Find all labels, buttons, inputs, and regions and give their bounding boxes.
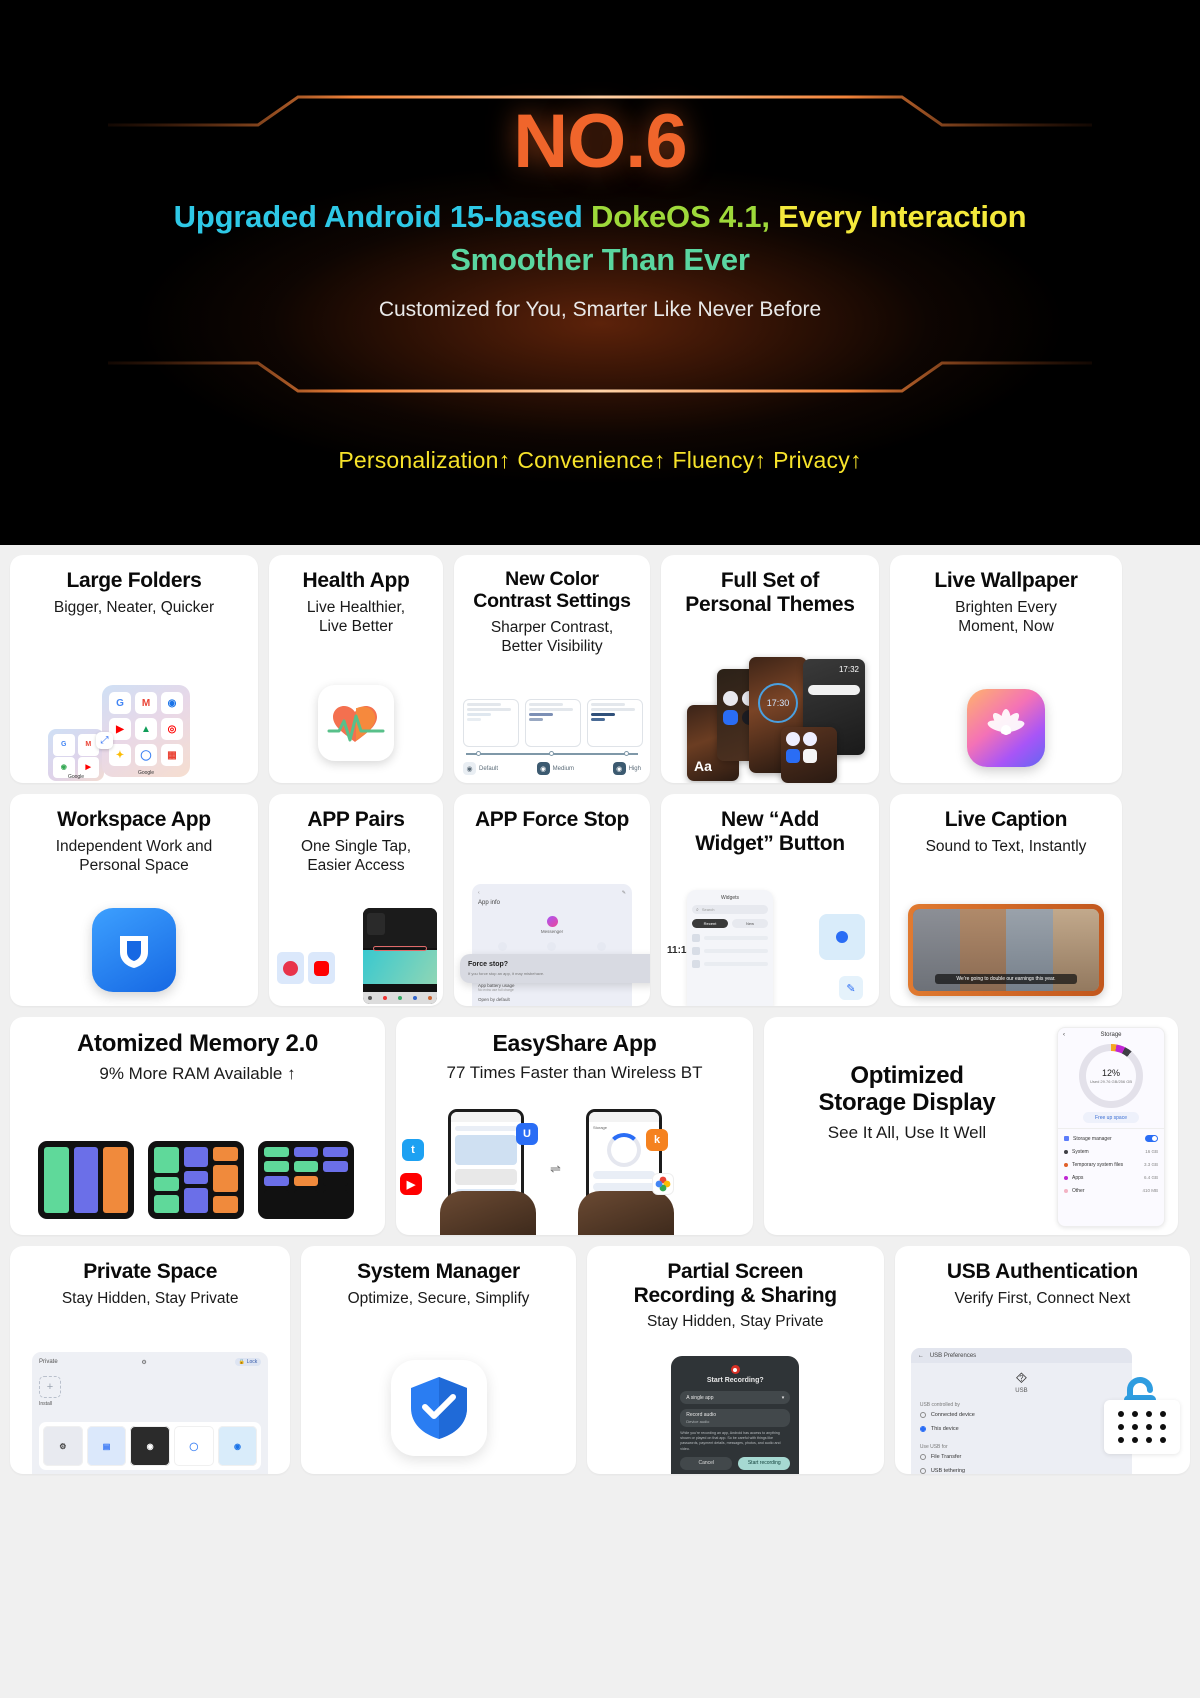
card-large-folders[interactable]: Large Folders Bigger, Neater, Quicker G …: [10, 555, 258, 783]
chevron-down-icon: ▾: [782, 1395, 785, 1401]
app-pair-chips: [277, 952, 335, 984]
force-stop-dialog: Force stop? If you force stop an app, it…: [460, 954, 650, 983]
radio-icon: [920, 1412, 926, 1418]
private-space-artwork: Private ⚙ 🔒 Lock + Install ⚙ ▤ ◉ ◯: [10, 1324, 290, 1474]
install-icon[interactable]: +: [39, 1376, 61, 1398]
dialog-title: Start Recording?: [680, 1377, 790, 1384]
card-title: Full Set of Personal Themes: [671, 569, 869, 616]
photos-icon: ✦: [109, 744, 131, 766]
youtube-music-icon: ◎: [161, 718, 183, 740]
live-caption-screen: We’re going to double our earnings this …: [913, 909, 1099, 991]
memory-card-2: [148, 1141, 244, 1219]
battery-usage-sub: No extra use full charge: [478, 988, 626, 992]
back-arrow-icon[interactable]: ←: [918, 1353, 924, 1359]
contrast-preview-row: [463, 699, 643, 747]
twitter-icon: t: [402, 1139, 424, 1161]
card-title: Live Wallpaper: [900, 569, 1112, 593]
usb-dot-pattern: [1104, 1400, 1180, 1454]
card-title: Partial Screen Recording & Sharing: [597, 1260, 874, 1307]
card-health-app[interactable]: Health App Live Healthier, Live Better: [269, 555, 443, 783]
usb-option-file-transfer[interactable]: File Transfer: [920, 1450, 1123, 1464]
eye-icon: ◉: [537, 762, 550, 775]
youtube-icon: ▶: [400, 1173, 422, 1195]
card-title: Live Caption: [900, 808, 1112, 832]
settings-icon: ⚙: [43, 1426, 83, 1466]
card-title: APP Force Stop: [464, 808, 640, 832]
radio-icon: [920, 1426, 926, 1432]
radio-icon: [920, 1468, 926, 1474]
feature-grid: Large Folders Bigger, Neater, Quicker G …: [0, 545, 1200, 1499]
theme-aa-label: Aa: [694, 758, 712, 774]
app-pairs-artwork: [269, 906, 443, 1006]
memory-card-3: [258, 1141, 354, 1219]
card-system-manager[interactable]: System Manager Optimize, Secure, Simplif…: [301, 1246, 575, 1474]
usb-option-connected-device[interactable]: Connected device: [920, 1408, 1123, 1422]
gmail-icon: M: [135, 692, 157, 714]
storage-manager-toggle[interactable]: [1145, 1135, 1158, 1142]
storage-panel-header: ‹ Storage: [1058, 1028, 1164, 1042]
card-live-caption[interactable]: Live Caption Sound to Text, Instantly We…: [890, 794, 1122, 1006]
hero-headline: Upgraded Android 15-based DokeOS 4.1, Ev…: [0, 196, 1200, 282]
free-up-space-button[interactable]: Free up space: [1083, 1112, 1139, 1123]
app-info-panel: ‹✎ App info Messenger Notifications Abou…: [472, 884, 632, 1006]
kid-icon: k: [646, 1129, 668, 1151]
recording-scope-select[interactable]: A single app ▾: [680, 1391, 790, 1404]
pair-app-1: [277, 952, 304, 984]
feature-row-1: Large Folders Bigger, Neater, Quicker G …: [10, 555, 1190, 783]
lock-button[interactable]: 🔒 Lock: [235, 1358, 262, 1366]
feature-row-3: Atomized Memory 2.0 9% More RAM Availabl…: [10, 1017, 1190, 1235]
pair-app-2: [308, 952, 335, 984]
live-wallpaper-icon: [967, 689, 1045, 767]
tagline-item-personalization: Personalization↑: [338, 447, 510, 473]
usb-option-this-device[interactable]: This device: [920, 1422, 1123, 1436]
contrast-slider[interactable]: [466, 753, 638, 755]
storage-donut-chart: 12% Used 29.76 GB/256 GB: [1079, 1044, 1143, 1108]
tab-new[interactable]: New: [732, 919, 768, 928]
chrome-icon: ◯: [174, 1426, 214, 1466]
back-icon[interactable]: ‹: [1063, 1032, 1065, 1038]
card-color-contrast[interactable]: New Color Contrast Settings Sharper Cont…: [454, 555, 650, 783]
card-live-wallpaper[interactable]: Live Wallpaper Brighten Every Moment, No…: [890, 555, 1122, 783]
usb-label: USB: [911, 1388, 1132, 1394]
card-app-force-stop[interactable]: APP Force Stop ‹✎ App info Messenger Not…: [454, 794, 650, 1006]
card-title: Atomized Memory 2.0: [20, 1031, 375, 1058]
card-subtitle: Verify First, Connect Next: [905, 1289, 1180, 1309]
card-title: EasyShare App: [406, 1031, 743, 1057]
card-title: Private Space: [20, 1260, 280, 1284]
card-optimized-storage[interactable]: Optimized Storage Display See It All, Us…: [764, 1017, 1178, 1235]
card-subtitle: One Single Tap, Easier Access: [279, 837, 433, 877]
widgets-panel-title: Widgets: [692, 895, 768, 901]
force-stop-artwork: ‹✎ App info Messenger Notifications Abou…: [454, 858, 650, 1006]
headline-segment-2: DokeOS 4.1,: [591, 199, 778, 234]
open-by-default-label: Open by default: [478, 997, 510, 1002]
themes-artwork: Aa 17:30 17:32: [661, 653, 879, 783]
usb-option-tethering[interactable]: USB tethering: [920, 1464, 1123, 1474]
theme-time-label: 17:32: [839, 665, 859, 674]
large-folder-preview: G M ◉ ▶ ▲ ◎ ✦ ◯ ▦ Google: [102, 685, 190, 777]
card-subtitle: 77 Times Faster than Wireless BT: [406, 1062, 743, 1084]
dialog-buttons: Cancel Start recording: [680, 1457, 790, 1470]
storage-panel: ‹ Storage 12% Used 29.76 GB/256 GB Free …: [1057, 1027, 1165, 1227]
card-private-space[interactable]: Private Space Stay Hidden, Stay Private …: [10, 1246, 290, 1474]
files-icon: ▤: [87, 1426, 127, 1466]
card-personal-themes[interactable]: Full Set of Personal Themes Aa 17:30: [661, 555, 879, 783]
memory-card-1: [38, 1141, 134, 1219]
usb-panel-header: ← USB Preferences: [911, 1348, 1132, 1363]
lock-icon: 🔒: [239, 1359, 245, 1365]
edit-icon[interactable]: ✎: [622, 890, 626, 896]
large-folders-artwork: G M ◉ ▶ Google ⤢ G M ◉ ▶ ▲ ◎ ✦ ◯ ▦: [10, 663, 258, 783]
card-subtitle: Sharper Contrast, Better Visibility: [464, 618, 640, 658]
easyshare-artwork: Storage ⇌ t ▶ U k: [396, 1095, 753, 1235]
chrome-icon: ◯: [135, 744, 157, 766]
storage-list-item[interactable]: System 16 GB: [1064, 1145, 1158, 1158]
card-title: Large Folders: [20, 569, 248, 593]
contrast-preview-high: [587, 699, 643, 747]
card-subtitle: Stay Hidden, Stay Private: [597, 1312, 874, 1332]
storage-panel-title: Storage: [1100, 1032, 1121, 1038]
private-space-panel: Private ⚙ 🔒 Lock + Install ⚙ ▤ ◉ ◯: [32, 1352, 268, 1474]
card-workspace-app[interactable]: Workspace App Independent Work and Perso…: [10, 794, 258, 1006]
contrast-level-high[interactable]: ◉ High: [613, 762, 641, 775]
card-subtitle: Bigger, Neater, Quicker: [20, 598, 248, 618]
headline-segment-1: Upgraded Android 15-based: [174, 199, 591, 234]
expand-icon: ⤢: [96, 732, 113, 749]
photos-icon: [652, 1173, 674, 1195]
storage-list-item[interactable]: Storage manager: [1064, 1132, 1158, 1145]
private-space-header: Private ⚙ 🔒 Lock: [39, 1358, 261, 1366]
widgets-panel: Widgets ⌕ Search Recent New: [687, 890, 773, 1006]
add-widget-artwork: 11:15 Widgets ⌕ Search Recent New: [661, 884, 879, 1006]
usb-preferences-panel: ← USB Preferences ⯑ USB USB controlled b…: [911, 1348, 1132, 1474]
google-icon: G: [53, 734, 75, 756]
folder-label: Google: [48, 774, 104, 780]
add-widget-button[interactable]: ✎: [839, 976, 863, 1000]
card-subtitle: Optimize, Secure, Simplify: [311, 1289, 565, 1309]
record-icon: [731, 1365, 740, 1374]
card-subtitle: Sound to Text, Instantly: [900, 837, 1112, 857]
storage-used: Used 29.76 GB/256 GB: [1090, 1079, 1132, 1084]
card-title: System Manager: [311, 1260, 565, 1284]
tagline-item-privacy: Privacy↑: [773, 447, 862, 473]
recording-note: While you’re recording an app, Android h…: [680, 1431, 790, 1452]
private-space-dock: ⚙ ▤ ◉ ◯ ◉: [39, 1422, 261, 1470]
card-subtitle: Independent Work and Personal Space: [20, 837, 248, 877]
dialog-body: If you force stop an app, it may misbeha…: [468, 971, 650, 976]
private-label: Private: [39, 1359, 58, 1365]
contrast-level-labels: ◉ Default ◉ Medium ◉ High: [463, 762, 641, 775]
card-subtitle: 9% More RAM Available ↑: [20, 1063, 375, 1085]
camera-icon: ◉: [130, 1426, 170, 1466]
card-usb-authentication[interactable]: USB Authentication Verify First, Connect…: [895, 1246, 1190, 1474]
transfer-arrows-icon: ⇌: [550, 1161, 561, 1177]
record-audio-option[interactable]: Record audio Device audio: [680, 1409, 790, 1427]
card-subtitle: See It All, Use It Well: [764, 1122, 1050, 1144]
drive-icon: ▲: [135, 718, 157, 740]
card-subtitle: Stay Hidden, Stay Private: [20, 1289, 280, 1309]
messenger-icon: [547, 916, 558, 927]
contrast-level-medium[interactable]: ◉ Medium: [537, 762, 574, 775]
card-title: Health App: [279, 569, 433, 593]
feature-row-2: Workspace App Independent Work and Perso…: [10, 794, 1190, 1006]
tagline-item-convenience: Convenience↑: [517, 447, 665, 473]
maps-icon: ◉: [161, 692, 183, 714]
live-caption-text: We’re going to double our earnings this …: [935, 974, 1076, 984]
app-pairs-phone: [363, 908, 437, 1004]
storage-list-item[interactable]: Apps 6.4 GB: [1064, 1171, 1158, 1184]
cancel-button[interactable]: Cancel: [680, 1457, 732, 1470]
feature-row-4: Private Space Stay Hidden, Stay Private …: [10, 1246, 1190, 1474]
card-title: USB Authentication: [905, 1260, 1180, 1284]
card-subtitle: Live Healthier, Live Better: [279, 598, 433, 638]
card-title: APP Pairs: [279, 808, 433, 832]
contrast-artwork: ◉ Default ◉ Medium ◉ High: [454, 711, 650, 783]
browser-icon: ◉: [218, 1426, 258, 1466]
tab-recent[interactable]: Recent: [692, 919, 728, 928]
usb-panel-title: USB Preferences: [930, 1353, 976, 1359]
card-easyshare[interactable]: EasyShare App 77 Times Faster than Wirel…: [396, 1017, 753, 1235]
theme-phone-5: [781, 727, 837, 783]
gear-icon[interactable]: ⚙: [141, 1359, 146, 1366]
eye-icon: ◉: [463, 762, 476, 775]
calendar-icon: ▦: [161, 744, 183, 766]
card-atomized-memory[interactable]: Atomized Memory 2.0 9% More RAM Availabl…: [10, 1017, 385, 1235]
phone-label: Storage: [593, 1125, 655, 1130]
memory-artwork: [38, 1141, 354, 1219]
card-title: Workspace App: [20, 808, 248, 832]
hero-subline: Customized for You, Smarter Like Never B…: [0, 298, 1200, 322]
search-icon: ⌕: [696, 907, 699, 913]
storage-list-item[interactable]: Temporary system files 3.3 GB: [1064, 1158, 1158, 1171]
workspace-app-icon: [92, 908, 176, 992]
app-name: Messenger: [478, 929, 626, 934]
usb-artwork: ← USB Preferences ⯑ USB USB controlled b…: [895, 1324, 1190, 1474]
radio-icon: [920, 1454, 926, 1460]
google-icon: G: [109, 692, 131, 714]
headline-line-2: Smoother Than Ever: [0, 239, 1200, 282]
storage-percent: 12%: [1102, 1068, 1120, 1078]
card-subtitle: Brighten Every Moment, Now: [900, 598, 1112, 638]
theme-clock-widget: 17:30: [758, 683, 798, 723]
hand-right: Storage: [572, 1103, 680, 1235]
app-info-label: App info: [478, 900, 626, 906]
contrast-level-default[interactable]: ◉ Default: [463, 762, 498, 775]
eye-icon: ◉: [613, 762, 626, 775]
health-app-icon: [318, 685, 394, 761]
install-label: Install: [39, 1401, 261, 1407]
start-recording-dialog: Start Recording? A single app ▾ Record a…: [671, 1356, 799, 1474]
folder-label: Google: [102, 770, 190, 776]
contrast-preview-default: [463, 699, 519, 747]
contrast-preview-medium: [525, 699, 581, 747]
system-manager-icon: [391, 1360, 487, 1456]
live-caption-phone: We’re going to double our earnings this …: [908, 904, 1104, 996]
search-placeholder: Search: [702, 907, 715, 912]
dialog-title: Force stop?: [468, 961, 650, 968]
card-title: New Color Contrast Settings: [464, 569, 640, 613]
card-partial-recording[interactable]: Partial Screen Recording & Sharing Stay …: [587, 1246, 884, 1474]
tagline-item-fluency: Fluency↑: [672, 447, 766, 473]
card-app-pairs[interactable]: APP Pairs One Single Tap, Easier Access: [269, 794, 443, 1006]
card-add-widget[interactable]: New “Add Widget” Button 11:15 Widgets ⌕ …: [661, 794, 879, 1006]
start-recording-button[interactable]: Start recording: [738, 1457, 790, 1470]
hero-number: NO.6: [0, 104, 1200, 180]
widget-preview-tile: [819, 914, 865, 960]
headline-segment-3: Every Interaction: [778, 199, 1026, 234]
hero-banner: NO.6 Upgraded Android 15-based DokeOS 4.…: [0, 0, 1200, 545]
storage-list-item[interactable]: Other 410 MB: [1064, 1184, 1158, 1197]
card-title: New “Add Widget” Button: [671, 808, 869, 855]
workspace-icon: U: [516, 1123, 538, 1145]
hero-tagline: Personalization↑Convenience↑Fluency↑Priv…: [0, 447, 1200, 474]
card-title: Optimized Storage Display: [764, 1063, 1050, 1117]
back-icon[interactable]: ‹: [478, 890, 480, 896]
storage-breakdown-list: Storage manager System 16 GB Temporary s…: [1058, 1128, 1164, 1200]
usb-icon: ⯑: [911, 1371, 1132, 1386]
